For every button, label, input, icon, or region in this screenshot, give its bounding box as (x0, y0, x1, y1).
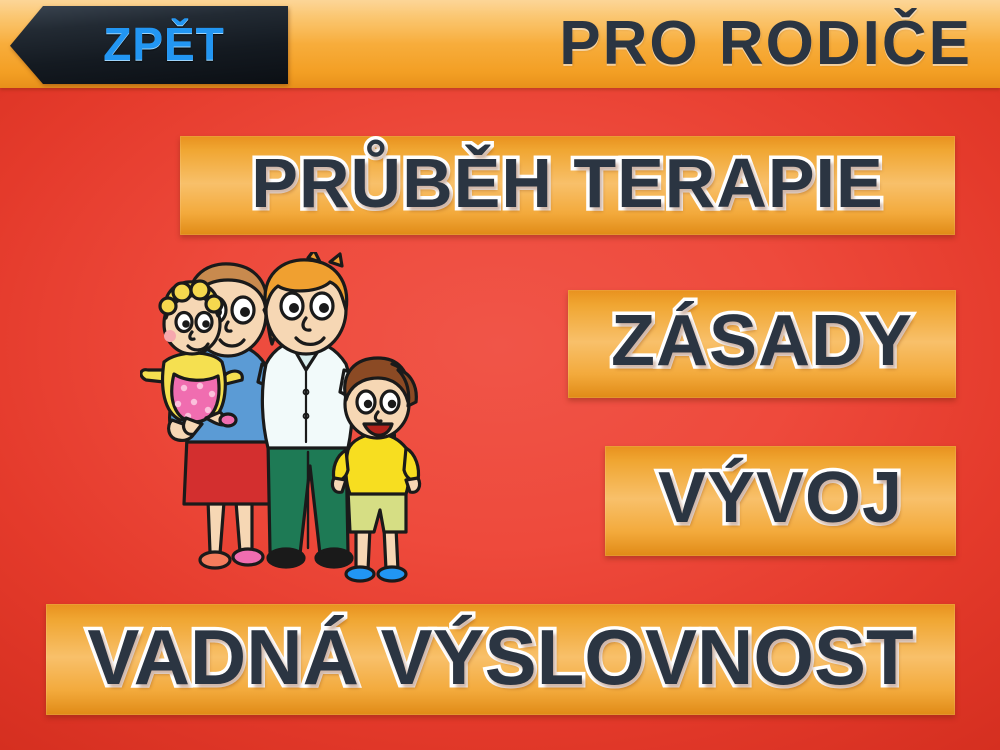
page-title: PRO RODIČE (559, 4, 972, 84)
menu-button-prubeh-terapie[interactable]: PRŮBĚH TERAPIE (180, 136, 955, 235)
family-illustration (140, 252, 440, 592)
app-screen: PRO RODIČE ZPĚT (0, 0, 1000, 750)
menu-button-label: VÝVOJ (658, 462, 903, 540)
menu-button-label: PRŮBĚH TERAPIE (251, 148, 883, 224)
back-button-label: ZPĚT (46, 6, 282, 84)
menu-button-label: ZÁSADY (611, 305, 913, 383)
menu-button-label: VADNÁ VÝSLOVNOST (87, 618, 913, 702)
menu-button-vadna-vyslovnost[interactable]: VADNÁ VÝSLOVNOST (46, 604, 955, 715)
menu-button-vyvoj[interactable]: VÝVOJ (605, 446, 956, 556)
back-button[interactable]: ZPĚT (10, 6, 288, 84)
menu-button-zasady[interactable]: ZÁSADY (568, 290, 956, 398)
